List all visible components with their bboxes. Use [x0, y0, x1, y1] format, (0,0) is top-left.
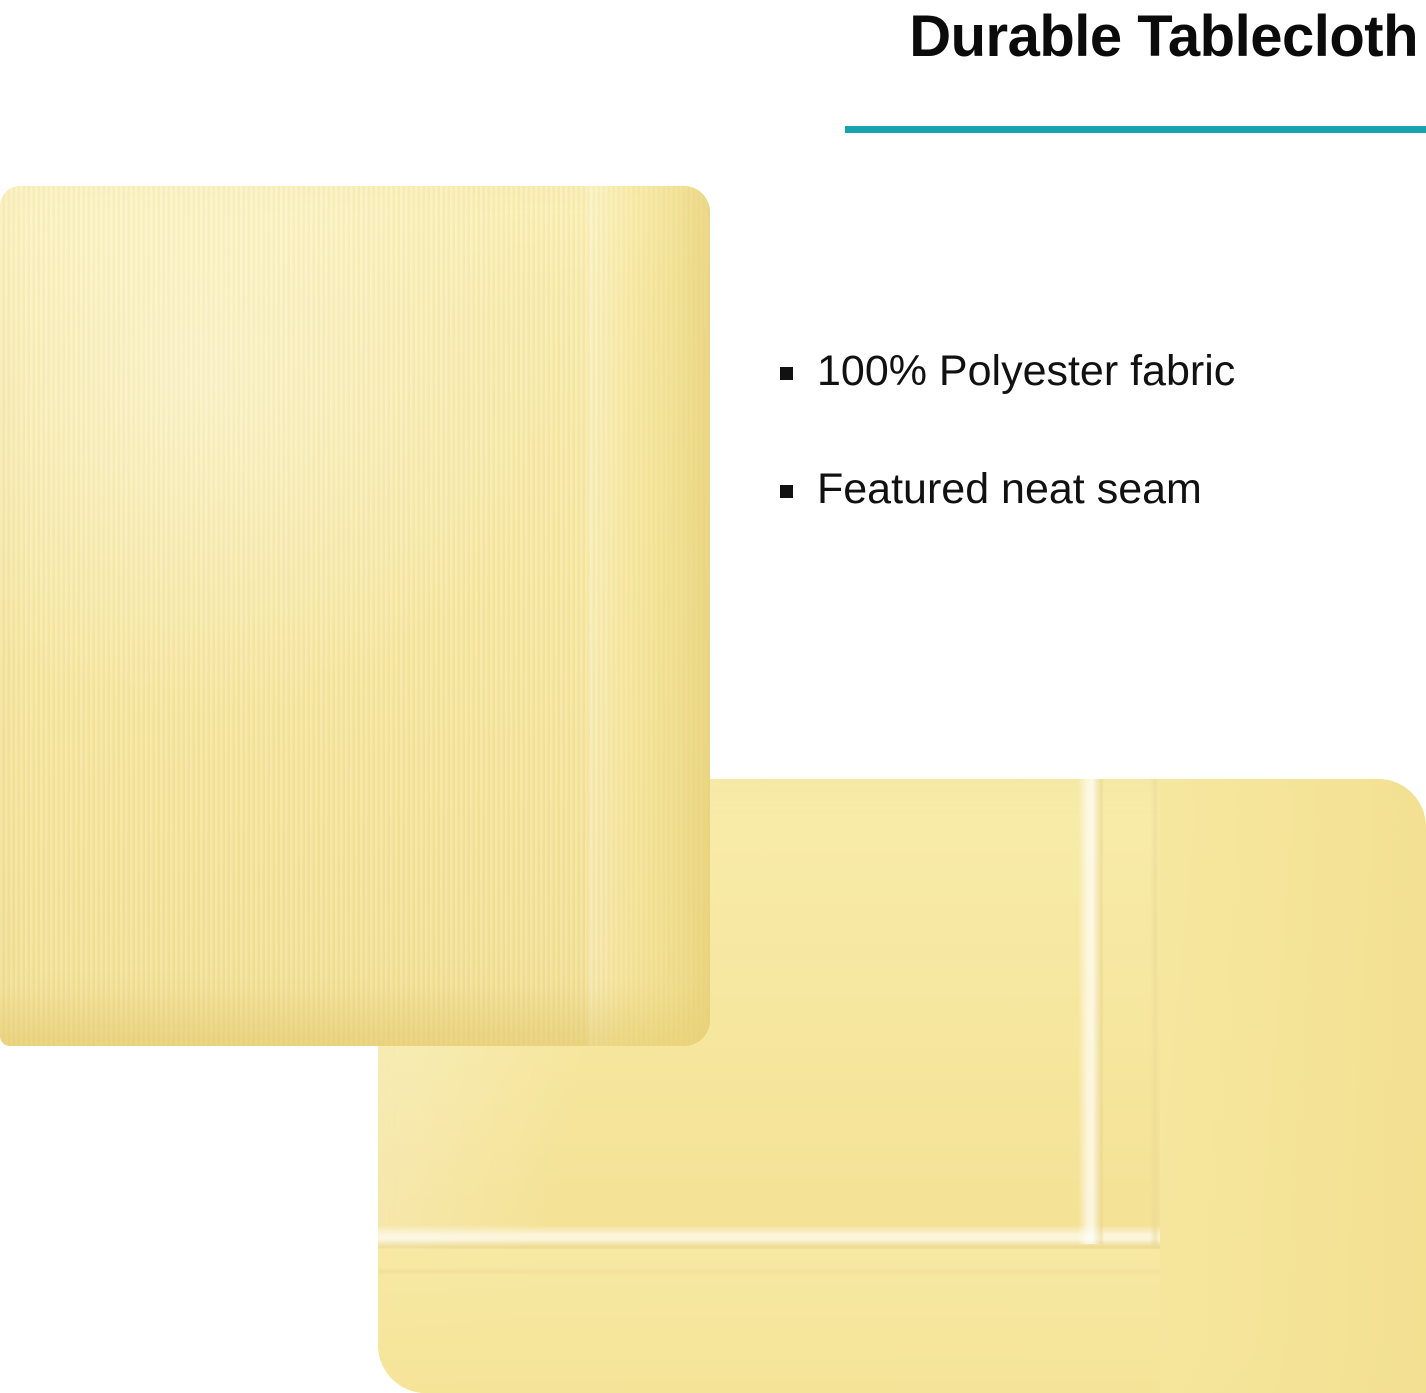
- seam-line-horizontal-secondary: [378, 1267, 1160, 1276]
- hem-panel-right: [1160, 779, 1426, 1393]
- heading-block: Durable Tablecloth: [600, 0, 1426, 66]
- feature-label: 100% Polyester fabric: [817, 345, 1235, 397]
- square-bullet-icon: [780, 367, 793, 380]
- seam-line-vertical-secondary: [1150, 779, 1160, 1249]
- square-bullet-icon: [780, 485, 793, 498]
- feature-label: Featured neat seam: [817, 463, 1202, 515]
- fabric-fold-edge: [588, 186, 710, 1046]
- product-photo: [0, 0, 1426, 1393]
- seam-line-horizontal: [378, 1225, 1160, 1249]
- list-item: 100% Polyester fabric: [780, 345, 1426, 397]
- list-item: Featured neat seam: [780, 463, 1426, 515]
- feature-list: 100% Polyester fabric Featured neat seam: [780, 345, 1426, 582]
- seam-line-vertical: [1078, 779, 1104, 1244]
- fabric-bottom-shadow: [0, 986, 710, 1046]
- title-underline-rule: [845, 126, 1426, 133]
- product-feature-image: Durable Tablecloth 100% Polyester fabric…: [0, 0, 1426, 1393]
- page-title: Durable Tablecloth: [600, 0, 1426, 66]
- folded-tablecloth-top: [0, 186, 710, 1046]
